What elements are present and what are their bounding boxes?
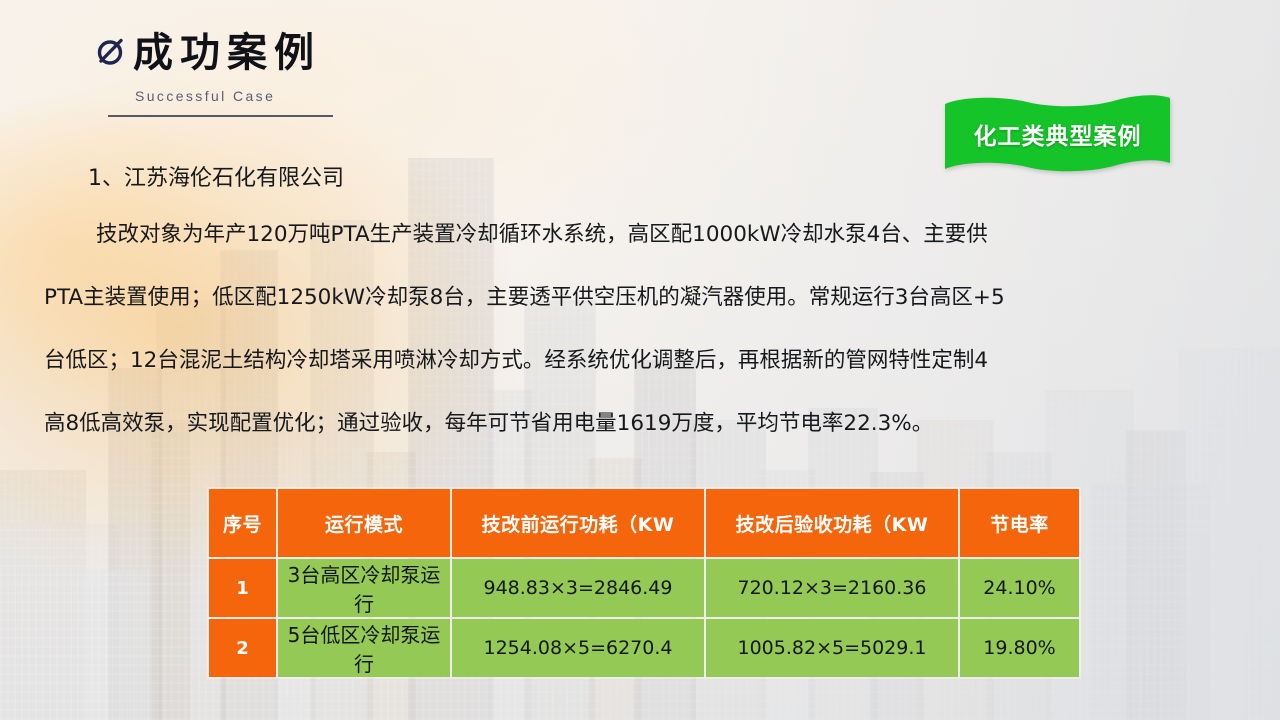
paragraph-line: 台低区；12台混泥土结构冷却塔采用喷淋冷却方式。经系统优化调整后，再根据新的管网… bbox=[44, 329, 1244, 392]
table-cell-index: 1 bbox=[209, 559, 276, 617]
table-cell-mode: 5台低区冷却泵运行 bbox=[278, 619, 450, 677]
table-cell-rate: 19.80% bbox=[960, 619, 1079, 677]
table-header-cell-before: 技改前运行功耗（KW bbox=[452, 489, 704, 557]
slash-circle-icon bbox=[95, 34, 127, 73]
table-header-cell-mode: 运行模式 bbox=[278, 489, 450, 557]
paragraph-line: 高8低高效泵，实现配置优化；通过验收，每年可节省用电量1619万度，平均节电率2… bbox=[44, 392, 1244, 455]
table-header-cell-index: 序号 bbox=[209, 489, 276, 557]
table-header-row: 序号 运行模式 技改前运行功耗（KW 技改后验收功耗（KW 节电率 bbox=[209, 489, 1079, 557]
case-title: 1、江苏海伦石化有限公司 bbox=[88, 166, 1244, 192]
table-header-cell-rate: 节电率 bbox=[960, 489, 1079, 557]
table-cell-rate: 24.10% bbox=[960, 559, 1079, 617]
slide-canvas: 成功案例 Successful Case 化工类典型案例 1、江苏海伦石化有限公… bbox=[0, 0, 1280, 720]
title-row: 成功案例 bbox=[95, 33, 333, 73]
flag-banner-label: 化工类典型案例 bbox=[941, 94, 1174, 173]
paragraph-line: PTA主装置使用；低区配1250kW冷却泵8台，主要透平供空压机的凝汽器使用。常… bbox=[44, 266, 1244, 329]
table-cell-after: 720.12×3=2160.36 bbox=[706, 559, 958, 617]
table-cell-index: 2 bbox=[209, 619, 276, 677]
case-paragraph: 技改对象为年产120万吨PTA生产装置冷却循环水系统，高区配1000kW冷却水泵… bbox=[44, 203, 1244, 455]
table-row: 1 3台高区冷却泵运行 948.83×3=2846.49 720.12×3=21… bbox=[209, 559, 1079, 617]
table-cell-mode: 3台高区冷却泵运行 bbox=[278, 559, 450, 617]
results-table-wrapper: 序号 运行模式 技改前运行功耗（KW 技改后验收功耗（KW 节电率 1 3台高区… bbox=[207, 487, 1075, 679]
slide-body: 1、江苏海伦石化有限公司 技改对象为年产120万吨PTA生产装置冷却循环水系统，… bbox=[44, 166, 1244, 455]
table-cell-before: 948.83×3=2846.49 bbox=[452, 559, 704, 617]
table-row: 2 5台低区冷却泵运行 1254.08×5=6270.4 1005.82×5=5… bbox=[209, 619, 1079, 677]
table-cell-before: 1254.08×5=6270.4 bbox=[452, 619, 704, 677]
flag-banner: 化工类典型案例 bbox=[941, 94, 1174, 173]
results-table: 序号 运行模式 技改前运行功耗（KW 技改后验收功耗（KW 节电率 1 3台高区… bbox=[207, 487, 1081, 679]
table-header-cell-after: 技改后验收功耗（KW bbox=[706, 489, 958, 557]
page-title: 成功案例 bbox=[133, 33, 321, 73]
title-divider bbox=[108, 115, 333, 117]
slide-header: 成功案例 Successful Case bbox=[95, 33, 333, 117]
page-subtitle: Successful Case bbox=[135, 88, 333, 104]
paragraph-line: 技改对象为年产120万吨PTA生产装置冷却循环水系统，高区配1000kW冷却水泵… bbox=[44, 203, 1244, 266]
table-cell-after: 1005.82×5=5029.1 bbox=[706, 619, 958, 677]
